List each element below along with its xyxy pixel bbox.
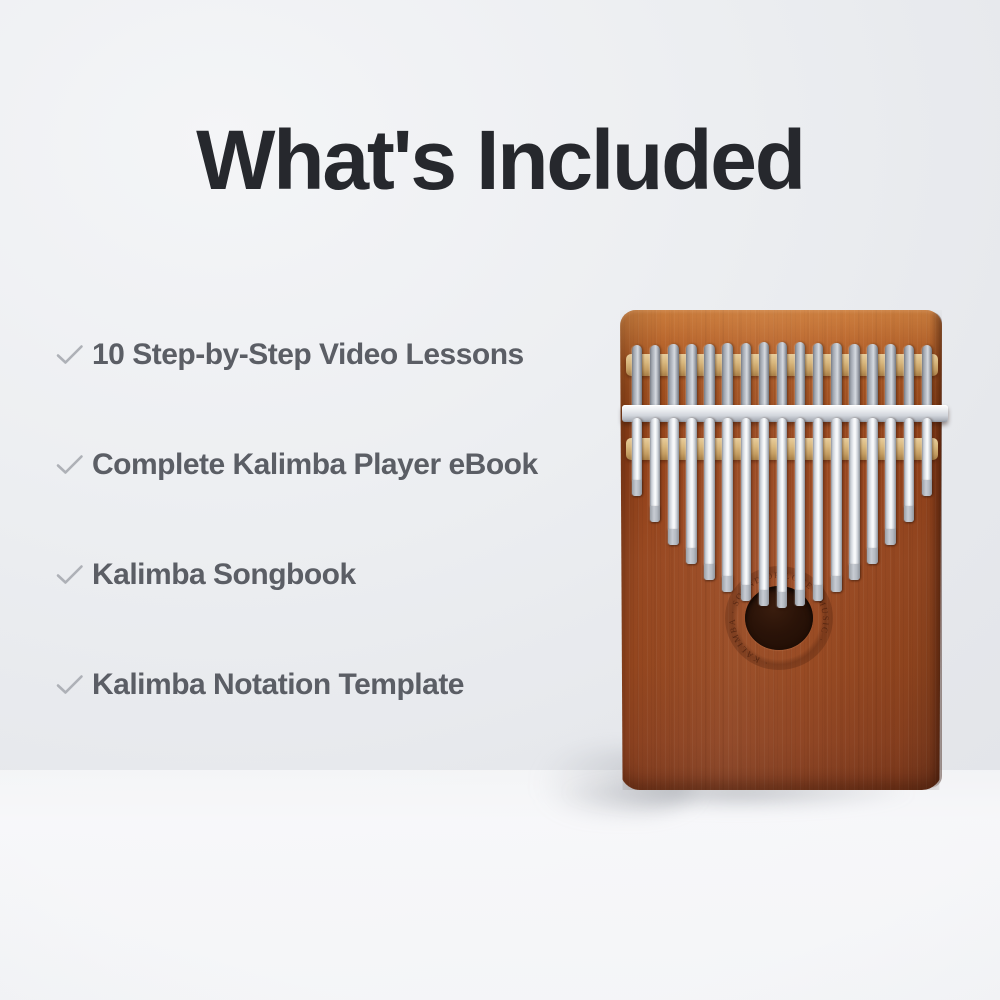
kalimba-tine-tip — [650, 506, 661, 522]
page-title: What's Included — [0, 118, 1000, 202]
check-icon — [50, 674, 92, 696]
kalimba-tine-tip — [813, 585, 824, 601]
kalimba-tine — [722, 418, 733, 592]
kalimba-tine — [686, 418, 697, 564]
list-item: 10 Step-by-Step Video Lessons — [50, 300, 610, 410]
kalimba-tine-tip — [922, 480, 933, 496]
kalimba-tine — [704, 418, 715, 580]
check-icon — [50, 454, 92, 476]
list-item: Kalimba Songbook — [50, 520, 610, 630]
kalimba-tine — [795, 418, 806, 606]
list-item-label: Kalimba Notation Template — [92, 668, 464, 702]
feature-list: 10 Step-by-Step Video Lessons Complete K… — [50, 300, 610, 740]
list-item-label: 10 Step-by-Step Video Lessons — [92, 338, 524, 372]
kalimba-tine — [904, 345, 915, 411]
list-item: Kalimba Notation Template — [50, 630, 610, 740]
kalimba-tine — [632, 345, 643, 411]
kalimba-tine — [777, 342, 788, 410]
list-item: Complete Kalimba Player eBook — [50, 410, 610, 520]
kalimba-tine — [759, 342, 770, 410]
kalimba-tine-tip — [867, 548, 878, 564]
kalimba-tine — [777, 418, 788, 608]
kalimba-tine — [813, 418, 824, 601]
kalimba-tine-tip — [722, 576, 733, 592]
list-item-label: Kalimba Songbook — [92, 558, 356, 592]
kalimba-tine-tip — [795, 590, 806, 606]
kalimba-tine — [668, 344, 679, 411]
kalimba-tine-tip — [759, 590, 770, 606]
kalimba-tine-tip — [904, 506, 915, 522]
check-icon — [50, 344, 92, 366]
kalimba-tine — [885, 344, 896, 411]
kalimba-tine — [831, 343, 842, 410]
kalimba-tine — [686, 344, 697, 411]
kalimba-product-image: · KALIMBA · SOUND OF LOVE · MUSIC · — [612, 310, 942, 795]
kalimba-tine-tip — [686, 548, 697, 564]
kalimba-tine-tip — [632, 480, 643, 496]
product-feature-card: What's Included 10 Step-by-Step Video Le… — [0, 0, 1000, 1000]
kalimba-tine — [668, 418, 679, 545]
kalimba-tine — [795, 342, 806, 410]
kalimba-tine-tip — [741, 585, 752, 601]
kalimba-tine — [922, 345, 933, 411]
kalimba-tine — [849, 418, 860, 580]
kalimba-tine — [741, 343, 752, 411]
kalimba-tine — [650, 345, 661, 411]
kalimba-tine-tip — [668, 529, 679, 545]
kalimba-tine-tip — [849, 564, 860, 580]
kalimba-tine — [885, 418, 896, 545]
check-icon — [50, 564, 92, 586]
kalimba-tine-tip — [885, 529, 896, 545]
kalimba-tine — [704, 344, 715, 411]
kalimba-tine-tip — [704, 564, 715, 580]
kalimba-tine — [813, 343, 824, 411]
kalimba-tine — [759, 418, 770, 606]
list-item-label: Complete Kalimba Player eBook — [92, 448, 538, 482]
kalimba-tine — [867, 418, 878, 564]
kalimba-tine — [722, 343, 733, 410]
kalimba-tine — [849, 344, 860, 411]
kalimba-tine — [831, 418, 842, 592]
kalimba-tine-tip — [831, 576, 842, 592]
kalimba-tine-tip — [777, 592, 788, 608]
kalimba-tine — [741, 418, 752, 601]
kalimba-tine — [867, 344, 878, 411]
